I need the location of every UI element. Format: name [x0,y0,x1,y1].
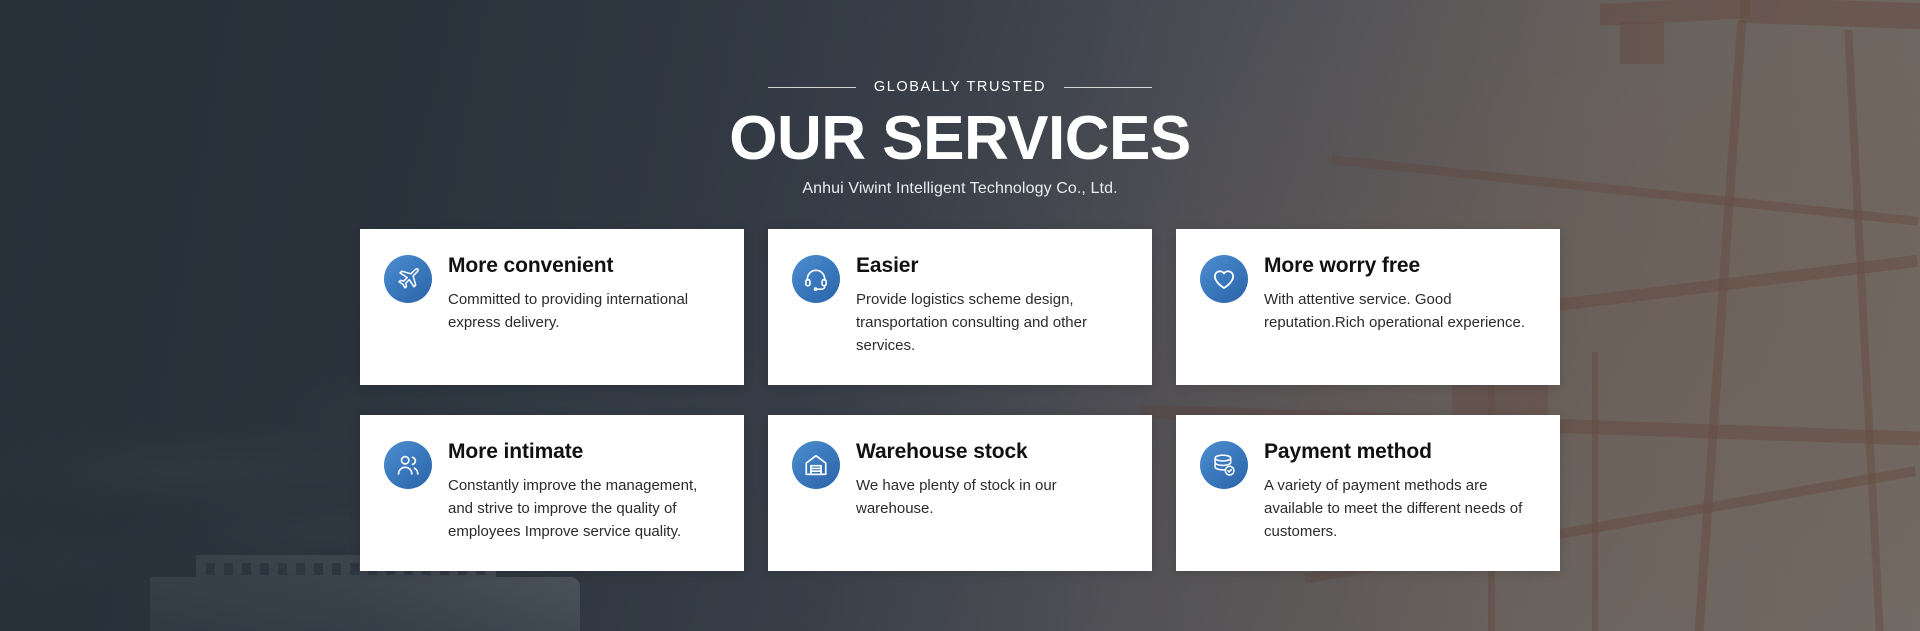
people-icon [384,441,432,489]
eyebrow-rule-right [1064,87,1152,88]
card-title: More convenient [448,254,718,278]
card-title: Warehouse stock [856,440,1126,464]
service-card-more-intimate[interactable]: More intimate Constantly improve the man… [360,415,744,571]
headset-icon [792,255,840,303]
service-card-warehouse-stock[interactable]: Warehouse stock We have plenty of stock … [768,415,1152,571]
card-description: Provide logistics scheme design, transpo… [856,288,1126,357]
card-description: With attentive service. Good reputation.… [1264,288,1534,334]
section-subtitle: Anhui Viwint Intelligent Technology Co.,… [0,180,1920,198]
card-description: Committed to providing international exp… [448,288,718,334]
services-section: GLOBALLY TRUSTED OUR SERVICES Anhui Viwi… [0,0,1920,631]
card-title: More intimate [448,440,718,464]
heart-icon [1200,255,1248,303]
eyebrow-row: GLOBALLY TRUSTED [0,78,1920,96]
service-card-payment-method[interactable]: Payment method A variety of payment meth… [1176,415,1560,571]
section-eyebrow: GLOBALLY TRUSTED [874,79,1046,95]
payment-stack-icon [1200,441,1248,489]
card-description: Constantly improve the management, and s… [448,474,718,543]
airplane-icon [384,255,432,303]
section-header: GLOBALLY TRUSTED OUR SERVICES Anhui Viwi… [0,0,1920,198]
page-title: OUR SERVICES [0,106,1920,172]
eyebrow-rule-left [768,87,856,88]
card-title: More worry free [1264,254,1534,278]
service-card-more-convenient[interactable]: More convenient Committed to providing i… [360,229,744,385]
warehouse-icon [792,441,840,489]
card-title: Easier [856,254,1126,278]
service-card-easier[interactable]: Easier Provide logistics scheme design, … [768,229,1152,385]
service-card-more-worry-free[interactable]: More worry free With attentive service. … [1176,229,1560,385]
card-title: Payment method [1264,440,1534,464]
card-description: We have plenty of stock in our warehouse… [856,474,1126,520]
service-card-grid: More convenient Committed to providing i… [360,229,1560,571]
card-description: A variety of payment methods are availab… [1264,474,1534,543]
